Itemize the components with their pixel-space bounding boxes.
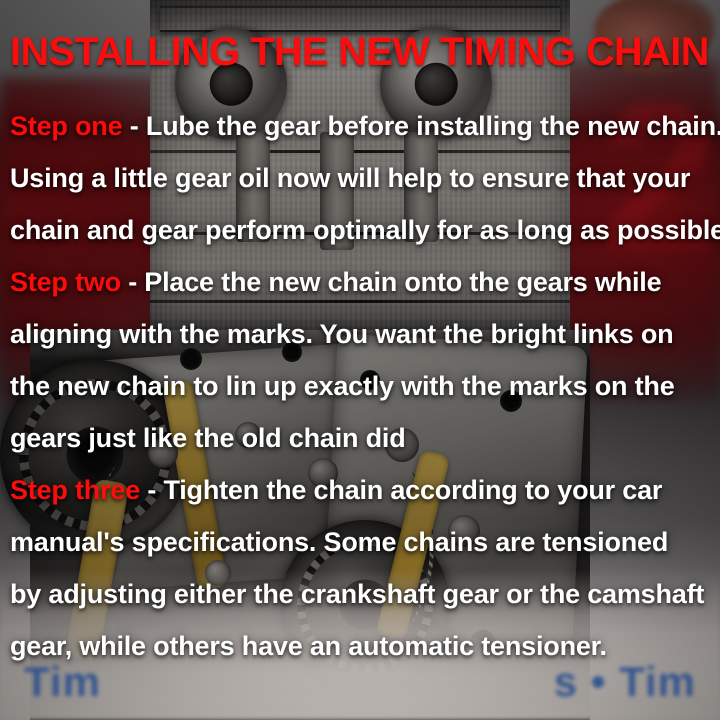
instruction-text: - Tighten the chain according to your ca… <box>140 475 662 505</box>
instruction-text: Using a little gear oil now will help to… <box>10 163 690 193</box>
poster: 2 <box>0 0 720 720</box>
step-label: Step three <box>10 475 140 505</box>
text-overlay: INSTALLING THE NEW TIMING CHAIN Step one… <box>0 0 720 720</box>
instruction-text: - Place the new chain onto the gears whi… <box>121 267 662 297</box>
page-title: INSTALLING THE NEW TIMING CHAIN <box>10 30 709 75</box>
instruction-text: - Lube the gear before installing the ne… <box>122 111 720 141</box>
instruction-text: aligning with the marks. You want the br… <box>10 319 673 349</box>
instruction-text: chain and gear perform optimally for as … <box>10 215 720 245</box>
instruction-line: manual's specifications. Some chains are… <box>10 527 668 558</box>
instruction-text: by adjusting either the crankshaft gear … <box>10 579 704 609</box>
instruction-line: by adjusting either the crankshaft gear … <box>10 579 704 610</box>
instruction-line: chain and gear perform optimally for as … <box>10 215 720 246</box>
instruction-line: gear, while others have an automatic ten… <box>10 631 607 662</box>
step-label: Step two <box>10 267 121 297</box>
instruction-text: the new chain to lin up exactly with the… <box>10 371 675 401</box>
instruction-line: gears just like the old chain did <box>10 423 406 454</box>
instruction-text: gears just like the old chain did <box>10 423 406 453</box>
instruction-line: Using a little gear oil now will help to… <box>10 163 690 194</box>
instruction-line: Step three - Tighten the chain according… <box>10 475 662 506</box>
instruction-text: gear, while others have an automatic ten… <box>10 631 607 661</box>
instruction-text: manual's specifications. Some chains are… <box>10 527 668 557</box>
instruction-line: Step two - Place the new chain onto the … <box>10 267 661 298</box>
step-label: Step one <box>10 111 122 141</box>
instruction-line: aligning with the marks. You want the br… <box>10 319 673 350</box>
instruction-line: Step one - Lube the gear before installi… <box>10 111 720 142</box>
instruction-line: the new chain to lin up exactly with the… <box>10 371 675 402</box>
